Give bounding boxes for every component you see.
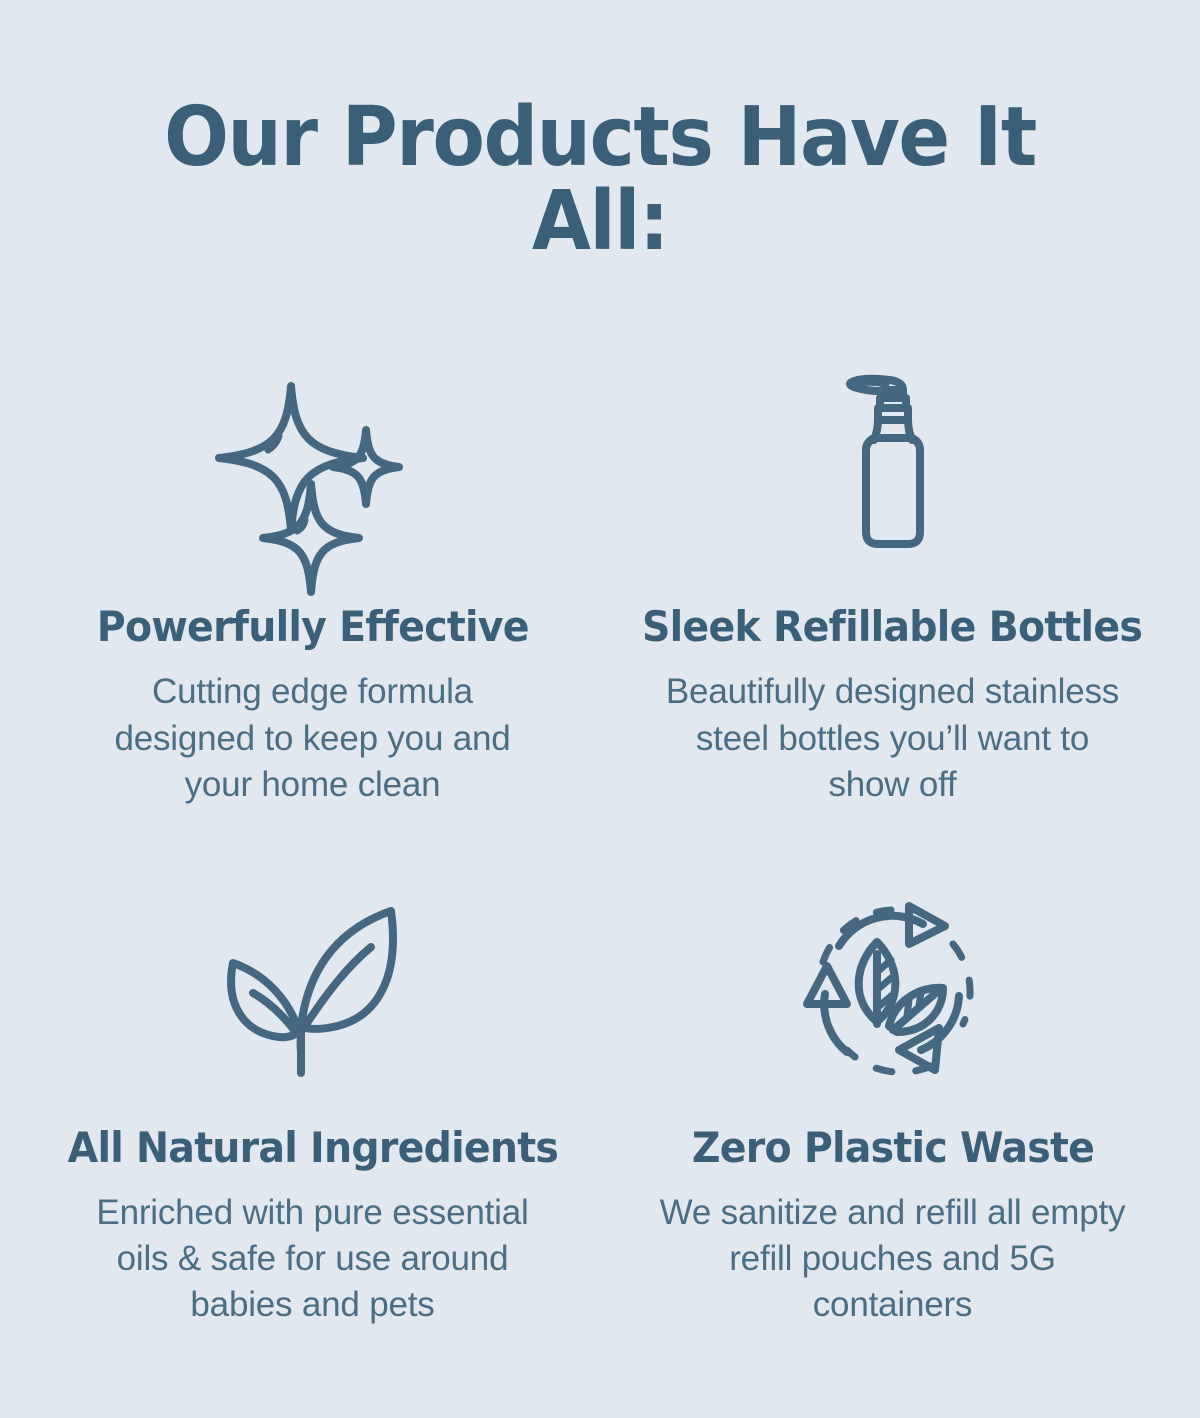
- promo-poster: Our Products Have It All: Powerfully Eff…: [0, 0, 1200, 1418]
- feature-title: Powerfully Effective: [97, 605, 529, 649]
- feature-body: We sanitize and refill all empty refill …: [658, 1190, 1128, 1329]
- feature-title: Sleek Refillable Bottles: [642, 605, 1142, 649]
- feature-grid: Powerfully Effective Cutting edge formul…: [20, 359, 1180, 1328]
- sparkles-icon: [223, 359, 403, 559]
- feature-title: All Natural Ingredients: [67, 1126, 557, 1170]
- page-title: Our Products Have It All:: [89, 96, 1112, 263]
- feature-card-zero-plastic-waste: Zero Plastic Waste We sanitize and refil…: [605, 880, 1180, 1329]
- recycle-leaf-icon: [803, 880, 983, 1080]
- feature-card-powerfully-effective: Powerfully Effective Cutting edge formul…: [20, 359, 605, 808]
- feature-card-sleek-refillable-bottles: Sleek Refillable Bottles Beautifully des…: [605, 359, 1180, 808]
- leaf-plant-icon: [223, 880, 403, 1080]
- feature-body: Enriched with pure essential oils & safe…: [78, 1190, 548, 1329]
- feature-card-all-natural-ingredients: All Natural Ingredients Enriched with pu…: [20, 880, 605, 1329]
- feature-body: Beautifully designed stainless steel bot…: [658, 669, 1128, 808]
- feature-title: Zero Plastic Waste: [691, 1126, 1093, 1170]
- pump-bottle-icon: [828, 359, 958, 559]
- feature-body: Cutting edge formula designed to keep yo…: [78, 669, 548, 808]
